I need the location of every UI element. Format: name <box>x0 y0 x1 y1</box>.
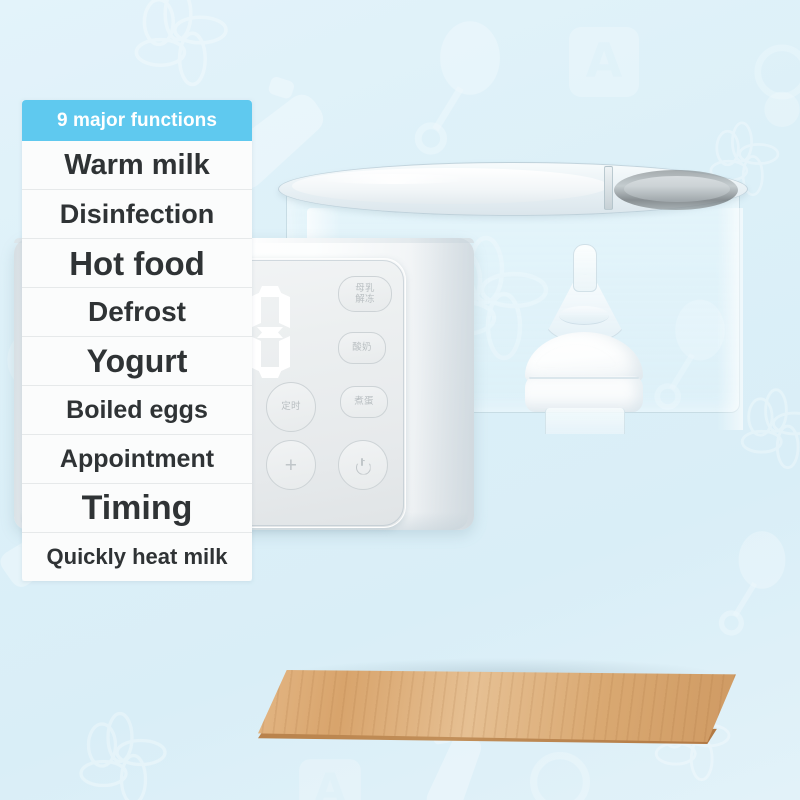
button-breast-milk-thaw[interactable]: 母乳 解冻 <box>338 276 392 312</box>
feature-row: Defrost <box>22 288 252 337</box>
feature-list: 9 major functions Warm milk Disinfection… <box>22 100 252 581</box>
transparent-lid <box>278 162 746 220</box>
bottle-collar-ring <box>525 376 643 412</box>
power-icon <box>356 458 371 473</box>
feature-row: Yogurt <box>22 337 252 386</box>
machine-body-right-shading <box>410 238 474 530</box>
feature-label: Hot food <box>69 247 205 280</box>
button-boil-egg[interactable]: 煮蛋 <box>340 386 388 418</box>
lid-hinge <box>604 166 613 210</box>
bottle-collar-seam <box>529 377 639 379</box>
feature-label: Disinfection <box>60 201 215 228</box>
bottle-nipple-right <box>543 244 625 344</box>
feature-row: Boiled eggs <box>22 386 252 435</box>
lid-left-half <box>292 168 608 204</box>
button-thaw-line2: 解冻 <box>355 294 374 306</box>
button-yogurt[interactable]: 酸奶 <box>338 332 386 364</box>
button-timer-label: 定时 <box>281 401 300 413</box>
nipple-tip <box>573 244 597 292</box>
feature-row: Quickly heat milk <box>22 533 252 581</box>
button-thaw-line1: 母乳 <box>355 283 374 295</box>
feature-label: Defrost <box>88 298 186 326</box>
feature-label: Yogurt <box>87 345 188 377</box>
cover-highlight-right <box>717 208 743 430</box>
bottle-neck <box>545 408 625 434</box>
nipple-ridge <box>559 306 609 325</box>
feature-row: Hot food <box>22 239 252 288</box>
feature-label: Quickly heat milk <box>47 546 228 568</box>
feature-list-badge: 9 major functions <box>22 100 252 141</box>
button-plus[interactable]: + <box>266 440 316 490</box>
lid-right-inner <box>624 176 730 202</box>
feature-label: Timing <box>82 491 193 525</box>
button-yogurt-label: 酸奶 <box>352 342 371 354</box>
feature-row: Timing <box>22 484 252 533</box>
plus-icon: + <box>285 455 297 476</box>
button-timer[interactable]: 定时 <box>266 382 316 432</box>
button-power[interactable] <box>338 440 388 490</box>
feature-row: Disinfection <box>22 190 252 239</box>
product-marketing-image: A <box>0 0 800 800</box>
feature-label: Boiled eggs <box>66 398 208 423</box>
feature-label: Warm milk <box>64 151 210 180</box>
led-digit-2 <box>250 286 290 378</box>
feature-label: Appointment <box>60 447 214 472</box>
feature-row: Appointment <box>22 435 252 484</box>
baby-bottle-right <box>519 244 649 434</box>
lid-highlight <box>318 174 468 184</box>
board-grain <box>258 670 736 742</box>
button-boil-egg-label: 煮蛋 <box>354 396 373 408</box>
feature-row: Warm milk <box>22 141 252 190</box>
